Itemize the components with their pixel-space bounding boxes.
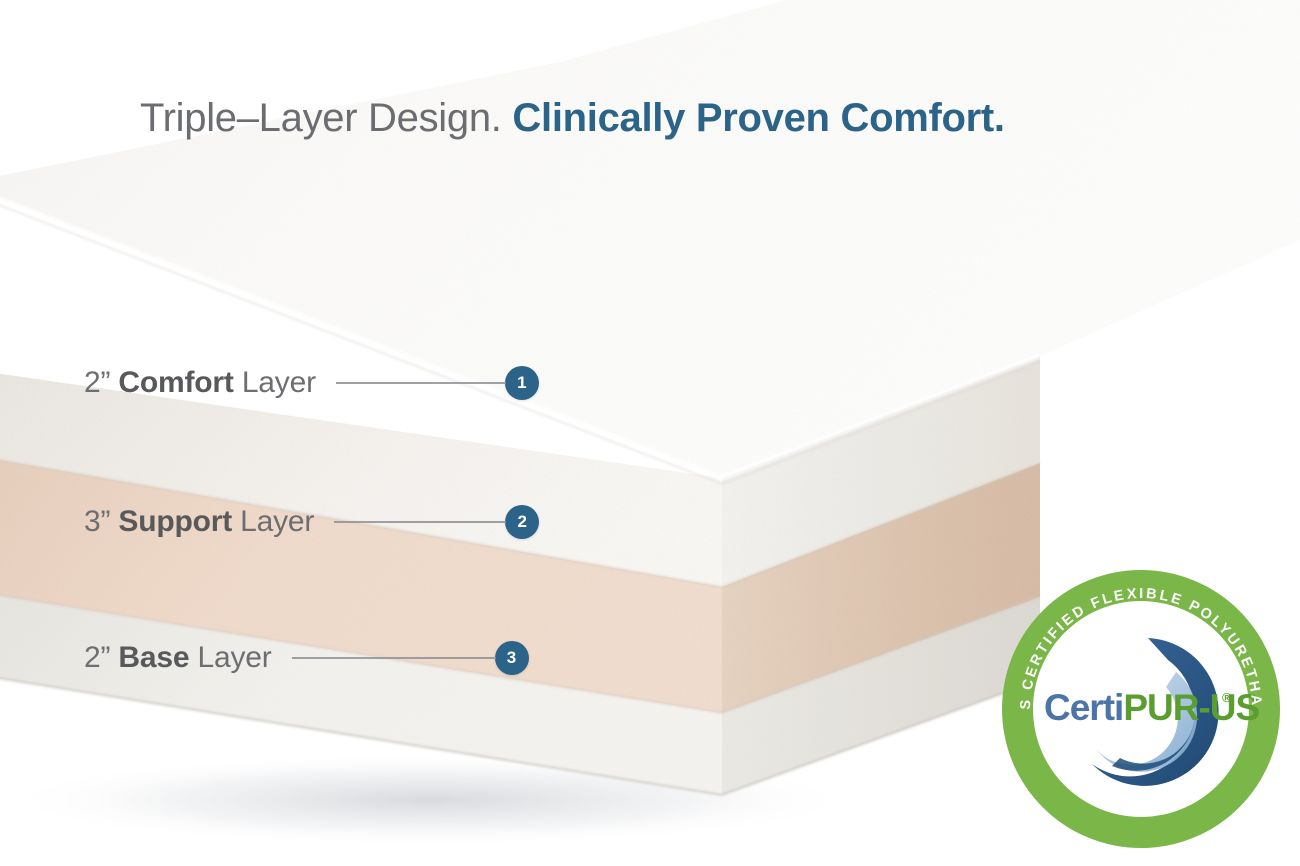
callout-1-number-badge[interactable]: 1 [505,366,539,400]
callout-3-thickness: 2” [84,641,110,674]
callout-2-thickness: 3” [84,505,110,538]
callout-base-layer[interactable]: 2” Base Layer 3 [84,637,529,679]
callout-2-leader-line [334,521,506,523]
callout-1-thickness: 2” [84,366,110,399]
badge-word-purus: PUR-US [1123,687,1259,728]
infographic-canvas: Triple–Layer Design. Clinically Proven C… [0,0,1300,866]
callout-comfort-layer[interactable]: 2” Comfort Layer 1 [84,362,539,404]
badge-word-certi: Certi [1044,687,1123,728]
callout-1-leader-line [336,382,506,384]
callout-3-name: Base [118,641,189,674]
callout-3-suffix: Layer [197,641,271,674]
callout-1-suffix: Layer [242,366,316,399]
certipur-badge-svg: CertiPUR-US ® CONTAINS CERTIFIED FLEXIBL… [1000,568,1282,850]
page-title: Triple–Layer Design. Clinically Proven C… [140,96,1005,140]
callout-2-suffix: Layer [240,505,314,538]
callout-3-leader-line [292,657,496,659]
callout-1-label: 2” Comfort Layer [84,366,316,400]
callout-2-name: Support [118,505,232,538]
certipur-us-badge[interactable]: CertiPUR-US ® CONTAINS CERTIFIED FLEXIBL… [1000,568,1282,850]
callout-2-label: 3” Support Layer [84,505,314,539]
callout-3-number-badge[interactable]: 3 [495,641,529,675]
callout-3-label: 2” Base Layer [84,641,272,675]
headline-light-text: Triple–Layer Design. [140,96,502,140]
callout-2-number-badge[interactable]: 2 [505,505,539,539]
badge-registered-mark: ® [1222,690,1232,705]
callout-1-name: Comfort [118,366,233,399]
headline-bold-text: Clinically Proven Comfort. [512,96,1004,140]
callout-support-layer[interactable]: 3” Support Layer 2 [84,501,539,543]
badge-wordmark: CertiPUR-US ® [1044,687,1259,728]
